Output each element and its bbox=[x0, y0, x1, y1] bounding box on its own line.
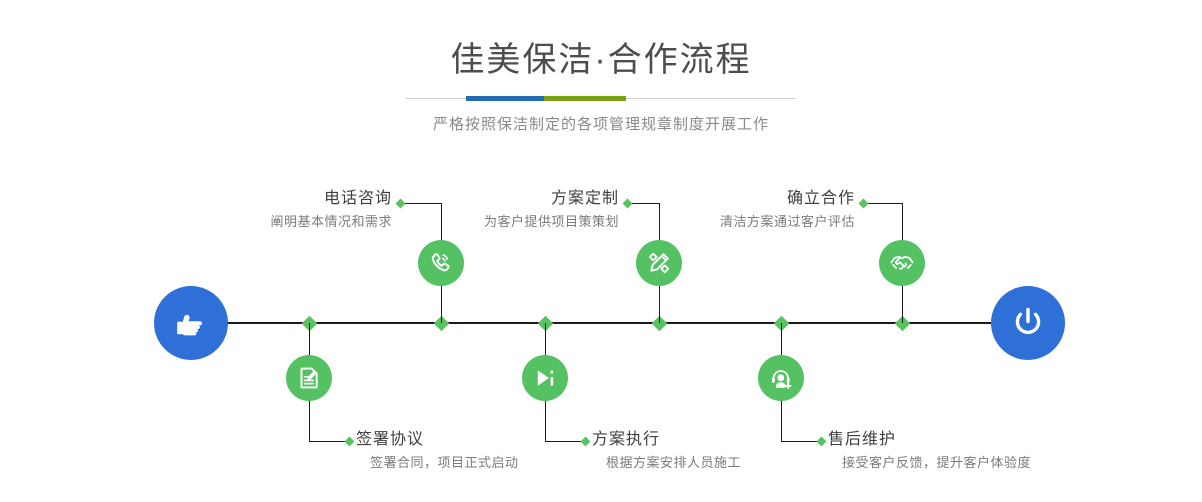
step-icon-4 bbox=[522, 355, 568, 401]
step-title-2: 签署协议 bbox=[356, 429, 586, 451]
step-label-1: 电话咨询 阐明基本情况和需求 bbox=[200, 188, 392, 232]
timeline-end-node bbox=[991, 286, 1065, 360]
power-button-icon bbox=[1007, 302, 1049, 344]
step-desc-4: 根据方案安排人员施工 bbox=[592, 451, 812, 473]
step-icon-6 bbox=[758, 355, 804, 401]
customer-service-add-icon bbox=[767, 364, 795, 392]
connector-tip-6 bbox=[817, 437, 827, 447]
step-title-6: 售后维护 bbox=[828, 429, 1088, 451]
handshake-icon bbox=[888, 249, 916, 277]
step-desc-2: 签署合同，项目正式启动 bbox=[356, 451, 586, 473]
step-icon-3 bbox=[636, 240, 682, 286]
step-label-3: 方案定制 为客户提供项目策策划 bbox=[420, 188, 619, 232]
step-icon-2 bbox=[286, 355, 332, 401]
connector-tip-5 bbox=[859, 199, 869, 209]
connector-tip-1 bbox=[396, 199, 406, 209]
connector-tip-3 bbox=[623, 199, 633, 209]
connector-arm-5 bbox=[863, 203, 902, 204]
step-title-5: 确立合作 bbox=[660, 188, 855, 210]
step-label-4: 方案执行 根据方案安排人员施工 bbox=[592, 429, 812, 473]
step-desc-5: 清洁方案通过客户评估 bbox=[660, 210, 855, 232]
step-label-2: 签署协议 签署合同，项目正式启动 bbox=[356, 429, 586, 473]
step-label-6: 售后维护 接受客户反馈，提升客户体验度 bbox=[828, 429, 1088, 473]
step-icon-5 bbox=[879, 240, 925, 286]
connector-arm-4 bbox=[545, 441, 585, 442]
connector-tip-2 bbox=[345, 437, 355, 447]
step-title-1: 电话咨询 bbox=[200, 188, 392, 210]
process-timeline: 电话咨询 阐明基本情况和需求 签署协议 签署合同，项目正式启动 bbox=[0, 0, 1202, 502]
pointing-hand-icon bbox=[171, 303, 211, 343]
step-icon-1 bbox=[418, 240, 464, 286]
pencil-ruler-icon bbox=[645, 249, 673, 277]
timeline-start-node bbox=[154, 286, 228, 360]
step-desc-6: 接受客户反馈，提升客户体验度 bbox=[828, 451, 1088, 473]
infographic-page: 佳美保洁·合作流程 严格按照保洁制定的各项管理规章制度开展工作 bbox=[0, 0, 1202, 502]
step-label-5: 确立合作 清洁方案通过客户评估 bbox=[660, 188, 855, 232]
document-edit-icon bbox=[295, 364, 323, 392]
connector-arm-6 bbox=[781, 441, 821, 442]
step-desc-3: 为客户提供项目策策划 bbox=[420, 210, 619, 232]
step-title-3: 方案定制 bbox=[420, 188, 619, 210]
step-title-4: 方案执行 bbox=[592, 429, 812, 451]
phone-call-icon bbox=[427, 249, 455, 277]
step-desc-1: 阐明基本情况和需求 bbox=[200, 210, 392, 232]
connector-arm-2 bbox=[309, 441, 349, 442]
play-execute-icon bbox=[531, 364, 559, 392]
